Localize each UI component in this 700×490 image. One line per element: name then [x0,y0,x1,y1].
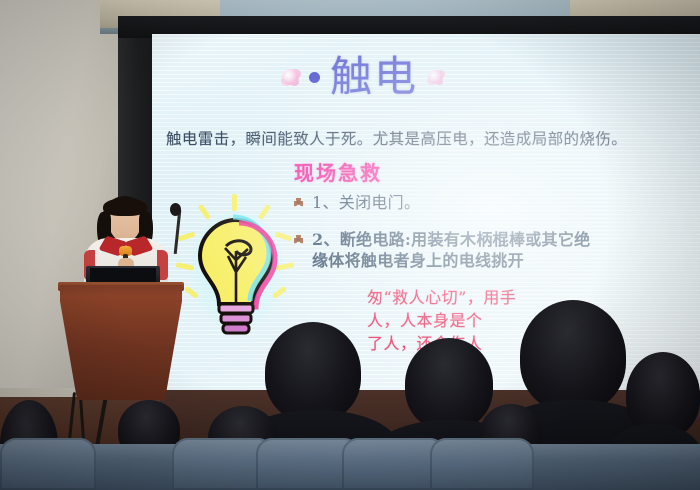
list-item: 1、关闭电门。 [294,192,694,214]
lightbulb-icon [162,194,307,344]
bullet-2-line-1: 2、断绝电路:用装有木柄棍棒或其它绝 [312,229,590,251]
auditorium-seat [430,438,534,490]
title-bullet-dot-icon [309,72,320,83]
bullet-2-line-2: 缘体将触电者身上的电线挑开 [312,250,590,272]
slide-title-row: 触电 [282,56,443,98]
auditorium-seat [0,438,96,490]
red-line-1: 匆“救人心切”，用手 [367,286,697,309]
slide-title: 触电 [330,56,418,98]
lecture-hall-photo: 触电 触电雷击，瞬间能致人于死。尤其是高压电，还造成局部的烧伤。 现场急救 1、… [0,0,700,490]
podium [60,285,182,400]
flower-decoration-left-icon [282,69,299,85]
slide-bullet-list: 1、关闭电门。 2、断绝电路:用装有木柄棍棒或其它绝 缘体将触电者身上的电线挑开 [294,192,694,287]
slide-lead-line: 触电雷击，瞬间能致人于死。尤其是高压电，还造成局部的烧伤。 [166,127,696,149]
microphone-head-icon [170,203,181,216]
flower-decoration-right-icon [428,70,443,84]
audience-head [265,322,361,422]
audience-head [520,300,626,412]
lightbulb-illustration [162,194,307,344]
list-item: 2、断绝电路:用装有木柄棍棒或其它绝 缘体将触电者身上的电线挑开 [294,229,694,272]
slide-sub-heading: 现场急救 [294,157,382,186]
audience-head [405,338,493,430]
bullet-1-line-1: 1、关闭电门。 [312,192,420,214]
